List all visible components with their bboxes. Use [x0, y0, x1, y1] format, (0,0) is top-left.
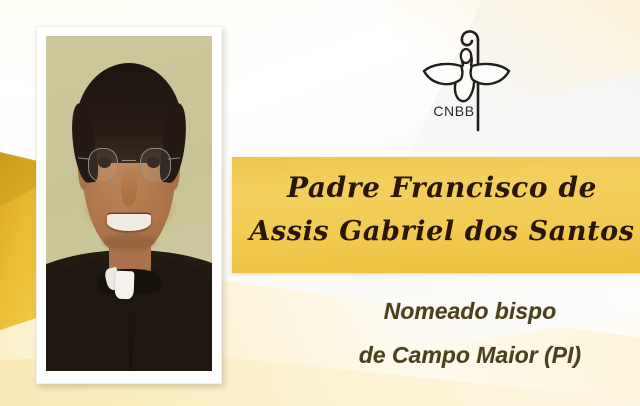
- appointment-subtitle-line-1: Nomeado bispo: [300, 300, 640, 323]
- portrait-cheek-left: [86, 193, 106, 223]
- portrait-smile: [107, 214, 152, 231]
- portrait-photo: [46, 36, 212, 371]
- portrait-chin-shadow: [102, 234, 155, 251]
- honoree-name-line-2: Assis Gabriel dos Santos: [246, 218, 638, 245]
- announcement-card: CNBB Padre Francisco de Assis Gabriel do…: [0, 0, 640, 406]
- portrait-eyeglass-lens-left: [88, 148, 118, 182]
- cnbb-dove-crosier-icon: [418, 18, 514, 138]
- portrait-eyeglass-bridge: [122, 160, 137, 161]
- appointment-subtitle: Nomeado bispo de Campo Maior (PI): [300, 300, 640, 367]
- portrait-cheek-right: [152, 193, 172, 223]
- appointment-subtitle-line-2: de Campo Maior (PI): [300, 344, 640, 367]
- portrait-eyeglass-lens-right: [140, 148, 170, 182]
- honoree-name: Padre Francisco de Assis Gabriel dos San…: [246, 160, 638, 245]
- portrait-frame: [36, 26, 222, 384]
- honoree-name-line-1: Padre Francisco de: [246, 174, 638, 202]
- cnbb-acronym-label: CNBB: [418, 103, 490, 119]
- portrait-nose: [121, 167, 138, 207]
- portrait-clerical-collar: [114, 270, 134, 299]
